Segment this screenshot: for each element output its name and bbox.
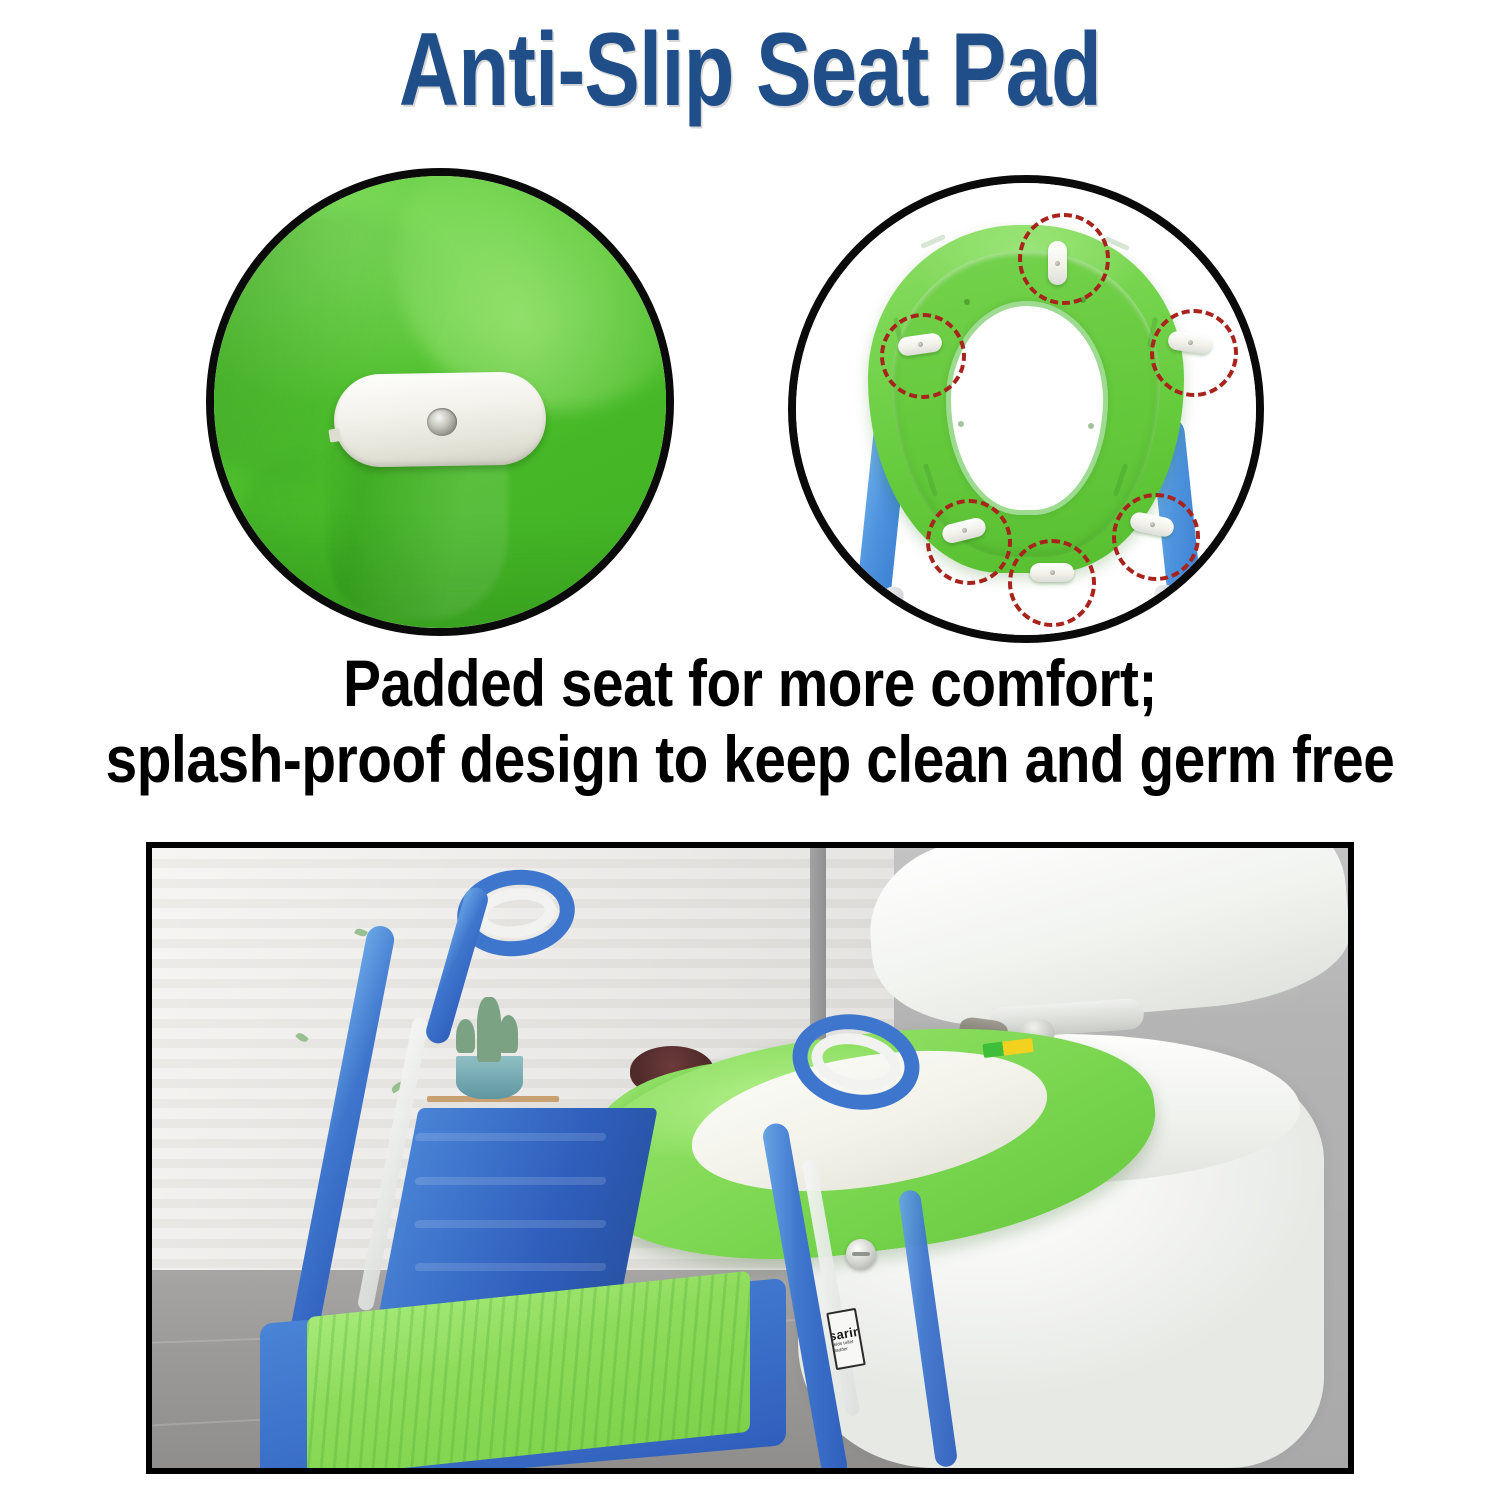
seat-opening — [946, 301, 1108, 515]
inset-anti-slip-pad-closeup — [206, 168, 674, 636]
ladder-back-slat — [414, 1133, 607, 1141]
feature-insets — [0, 165, 1500, 635]
ladder-back-slat — [414, 1263, 607, 1271]
feature-caption: Padded seat for more comfort; splash-pro… — [0, 645, 1500, 797]
highlight-marker — [1150, 309, 1238, 397]
highlight-marker — [926, 499, 1012, 585]
seat-vent-hole — [1088, 423, 1094, 429]
caption-line-2: splash-proof design to keep clean and ge… — [105, 721, 1395, 797]
inset-seat-underside-pads — [788, 175, 1264, 643]
inset-left-artwork — [214, 176, 666, 628]
lifestyle-photo-frame: sarin kids toilet ladder — [146, 842, 1354, 1474]
inset-right-artwork — [796, 183, 1256, 635]
pad-tab — [328, 427, 341, 441]
highlight-marker — [880, 313, 966, 399]
pad-screw-icon — [427, 408, 457, 436]
highlight-marker — [1112, 493, 1200, 581]
handle-right-grip — [806, 1026, 905, 1098]
caption-line-1: Padded seat for more comfort; — [105, 645, 1395, 721]
adjustment-knob[interactable] — [846, 1239, 876, 1269]
cactus-arm-left — [456, 1019, 475, 1053]
cactus-decal — [477, 997, 501, 1062]
cactus-arm-right — [499, 1015, 518, 1052]
lifestyle-photo: sarin kids toilet ladder — [152, 848, 1348, 1468]
ladder-foot-left — [880, 586, 904, 635]
anti-slip-pad — [333, 371, 547, 467]
seat-rim-shadow — [214, 520, 666, 628]
seat-vent-hole — [964, 299, 970, 305]
ladder-back-slat — [414, 1220, 607, 1228]
highlight-marker — [1018, 213, 1110, 305]
seat-vent-hole — [958, 421, 964, 427]
cactus-pot-decal — [456, 1056, 523, 1099]
page-title: Anti-Slip Seat Pad — [150, 18, 1350, 122]
highlight-marker — [1008, 539, 1096, 627]
ladder-back-slat — [414, 1177, 607, 1185]
